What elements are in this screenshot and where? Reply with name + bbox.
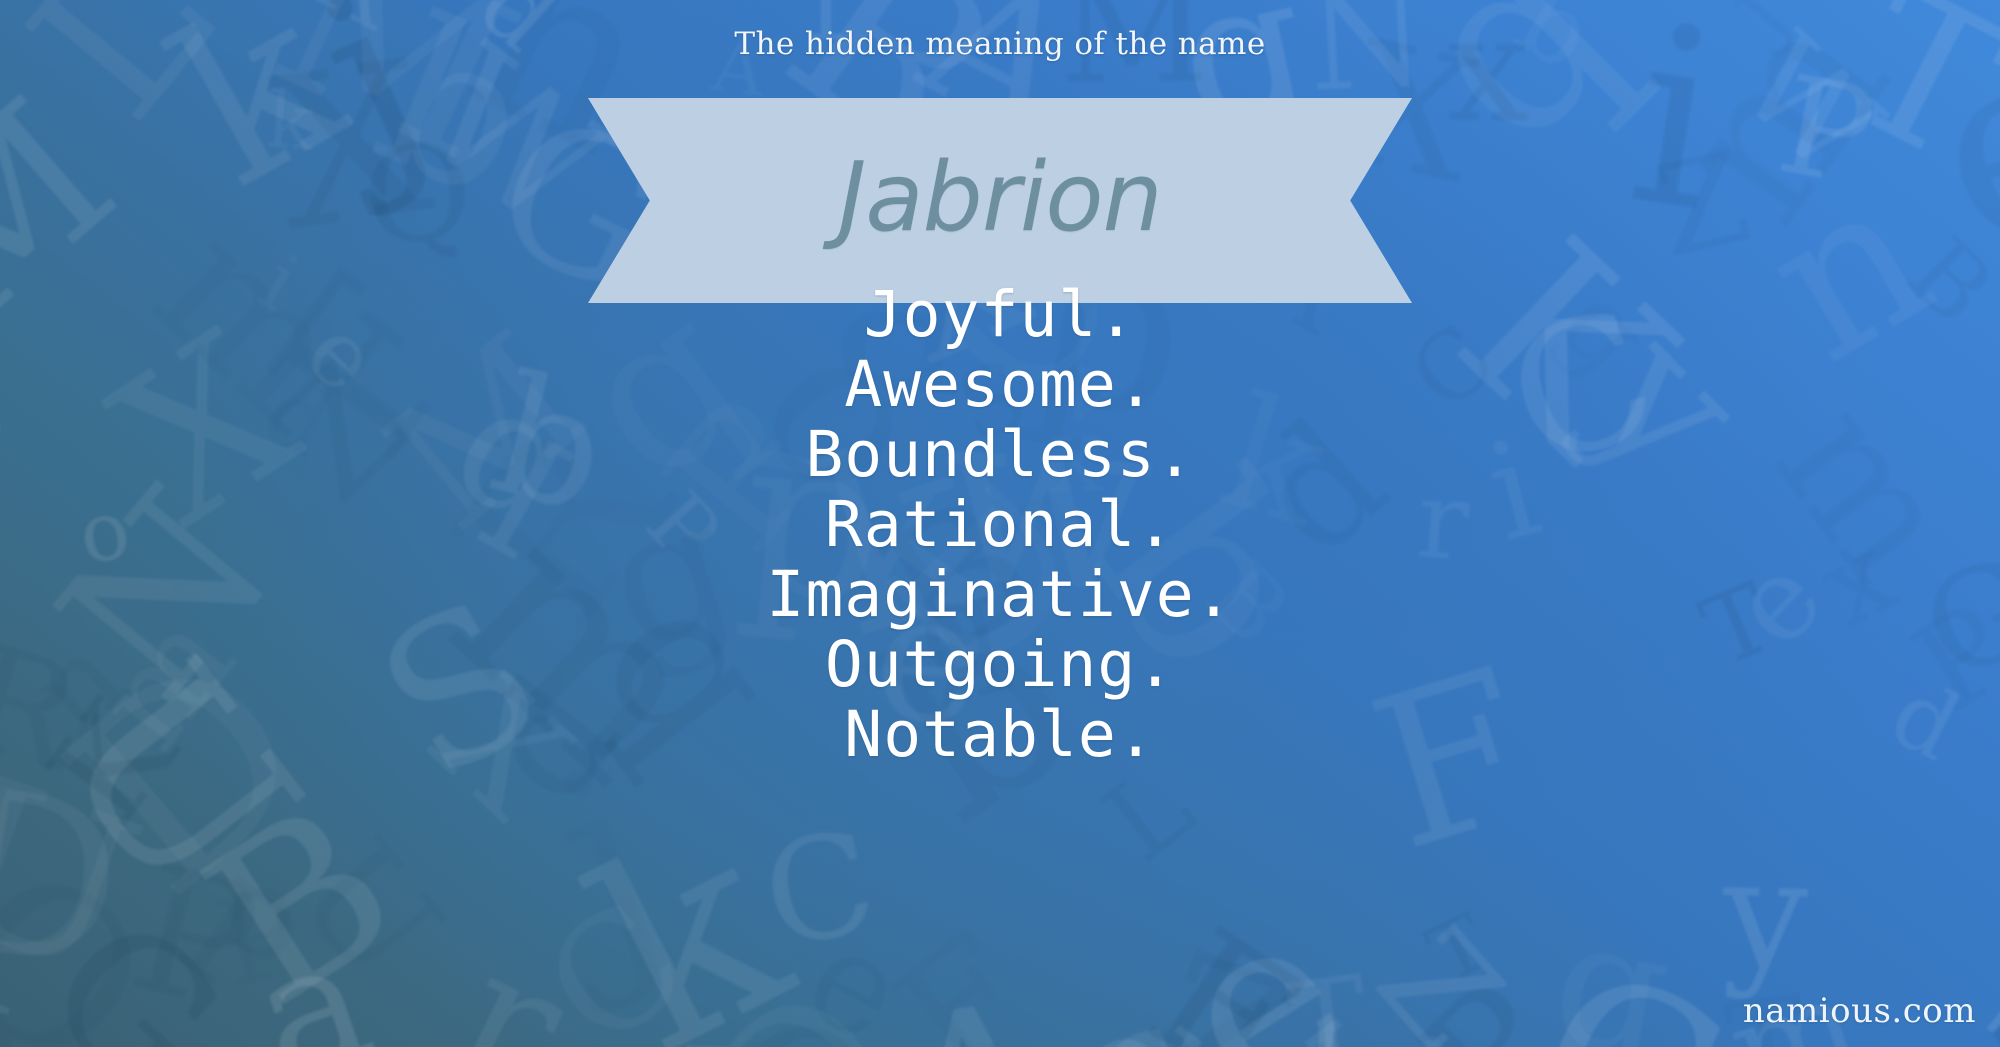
watermark-glyph: r — [1036, 1027, 1224, 1047]
trait-line: Awesome. — [0, 350, 2000, 420]
trait-line: Joyful. — [0, 280, 2000, 350]
watermark-glyph: G — [1515, 955, 1746, 1047]
trait-line: Rational. — [0, 490, 2000, 560]
watermark-glyph: e — [1154, 891, 1369, 1047]
name-text: Jabrion — [588, 98, 1412, 303]
watermark-glyph: U — [285, 826, 454, 996]
watermark-glyph: y — [0, 962, 19, 1047]
trait-line: Notable. — [0, 700, 2000, 770]
watermark-glyph: a — [240, 927, 383, 1047]
watermark-glyph: Z — [1649, 146, 1757, 264]
trait-line: Boundless. — [0, 420, 2000, 490]
watermark-glyph: e — [1567, 1019, 1676, 1047]
watermark-glyph: e — [1260, 1040, 1357, 1047]
watermark-glyph: B — [188, 790, 415, 1022]
watermark-glyph: d — [1050, 992, 1215, 1047]
watermark-glyph: L — [1094, 758, 1204, 871]
trait-line: Outgoing. — [0, 630, 2000, 700]
watermark-glyph: r — [1027, 976, 1212, 1047]
watermark-glyph: E — [1134, 918, 1320, 1047]
watermark-glyph: Q — [700, 1002, 899, 1047]
name-banner: Jabrion — [588, 98, 1412, 303]
name-meaning-card: bjiPrDMdCSjGNGQDCreLVATePemaUPkyroCnkqaT… — [0, 0, 2000, 1047]
watermark-glyph: P — [208, 882, 310, 995]
watermark-glyph: r — [301, 1030, 420, 1047]
watermark-glyph: F — [880, 922, 1046, 1047]
watermark-glyph: y — [1722, 854, 1809, 976]
watermark-glyph: P — [1409, 970, 1574, 1047]
site-watermark: namious.com — [1743, 991, 1976, 1031]
page-tagline: The hidden meaning of the name — [0, 26, 2000, 62]
watermark-glyph: P — [121, 857, 269, 1021]
watermark-glyph: Q — [0, 846, 170, 1047]
watermark-glyph: m — [1134, 1019, 1246, 1047]
watermark-glyph: g — [1544, 911, 1678, 1047]
watermark-glyph: Z — [1133, 943, 1313, 1047]
trait-line: Imaginative. — [0, 560, 2000, 630]
watermark-glyph: V — [1226, 1018, 1422, 1047]
watermark-glyph: C — [529, 889, 701, 1047]
watermark-glyph: k — [573, 813, 807, 1047]
watermark-glyph: T — [1284, 971, 1375, 1047]
watermark-glyph: D — [0, 777, 133, 981]
watermark-glyph: P — [166, 869, 309, 1016]
watermark-glyph: D — [689, 968, 915, 1047]
watermark-glyph: e — [794, 918, 917, 1047]
trait-list: Joyful.Awesome.Boundless.Rational.Imagin… — [0, 280, 2000, 770]
watermark-glyph: P — [1772, 70, 1881, 193]
watermark-glyph: j — [536, 755, 678, 972]
watermark-glyph: T — [1420, 910, 1495, 990]
watermark-glyph: U — [0, 766, 154, 988]
watermark-glyph: k — [265, 91, 316, 156]
watermark-glyph: A — [877, 993, 1075, 1047]
watermark-glyph: Z — [1364, 916, 1513, 1047]
watermark-glyph: C — [757, 826, 883, 956]
watermark-glyph: Q — [359, 138, 477, 254]
watermark-glyph: G — [28, 901, 239, 1047]
watermark-glyph: L — [14, 0, 228, 137]
watermark-glyph: r — [439, 939, 581, 1047]
watermark-glyph: X — [266, 53, 439, 241]
